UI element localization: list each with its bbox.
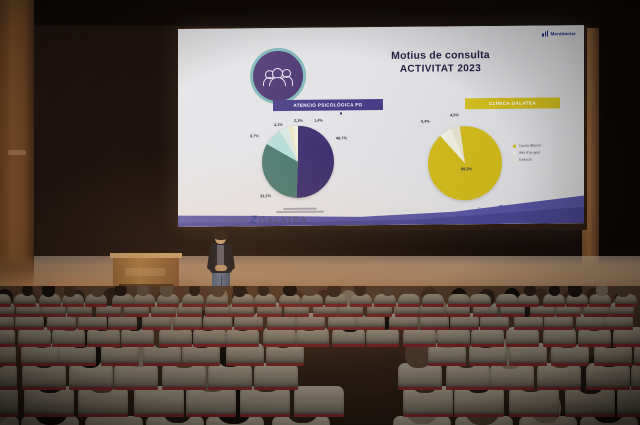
audience-seat [631,363,640,388]
legend-swatch-icon [513,159,516,162]
pie-right-label-1: 6,4% [421,119,430,124]
audience-member [160,286,173,297]
pie-left-label-4: 2,2% [294,118,303,123]
people-glyph [263,67,293,85]
galatea-fundacio-label: Fundació [226,217,248,223]
pie-left-label-5: 1,4% [314,118,323,123]
legend-item: Més d'un gest [513,150,571,155]
legend-label: Més d'un gest [519,151,541,155]
audience-seat [448,294,470,305]
audience-member [91,286,105,297]
legend-swatch-icon [513,151,516,154]
people-group-icon [250,48,306,105]
mentimeter-logo: Mentimeter [542,30,576,36]
presenter-shirt [217,245,224,265]
audience-member [64,286,76,297]
presenter-arm-right [227,252,235,271]
audience-member [549,286,560,296]
pie-left-label-0: 48,7% [336,135,347,140]
presenter-hair [214,231,228,240]
galatea-name-label: GALATEA [259,215,308,225]
audience-seat [254,363,298,388]
audience-member [616,286,630,297]
audience-member [211,286,225,297]
slide-title: Motius de consulta ACTIVITAT 2023 [328,47,553,77]
galatea-mark-icon: Z [249,214,258,226]
pie-left-label-3: 4,1% [274,122,283,127]
ceiling-band [34,0,640,26]
body-paragraph [340,116,418,117]
audience-member [258,286,269,296]
legend-item: Causa diferent [513,143,571,148]
audience-member [137,286,149,296]
audience-seat [398,294,420,305]
pie-chart-clinica-galatea [428,126,502,201]
legend-swatch-icon [513,144,516,147]
pie-right-label-2: 4,5% [450,112,459,117]
audience-seat [617,386,640,415]
slide-body-text [340,111,418,117]
pie-left-label-2: 8,7% [250,133,259,138]
body-paragraph [340,116,418,117]
audience-seat [469,294,491,305]
audience-seat [85,416,143,425]
pie-chart-atencio-psicologica [262,126,334,199]
section-badge-clinica-galatea: CLÍNICA GALATEA [465,97,560,109]
legend-label: Causa diferent [519,144,542,148]
pie-right-legend: Causa diferent Més d'un gest Evolució [513,143,571,165]
body-paragraph [340,116,418,117]
audience-member [568,286,582,297]
audience-seat [496,294,518,305]
mentimeter-label: Mentimeter [550,31,576,36]
audience-member [382,286,394,296]
presenter-hands [215,265,227,271]
lectern-plaque [125,268,165,276]
audience-seat [294,386,344,415]
seated-audience [0,286,640,425]
audience-seat [0,386,18,415]
mentimeter-bars-icon [542,30,548,36]
audience-seat [134,386,184,415]
audience-member [114,286,126,296]
body-paragraph [340,111,418,112]
pie-right-label-0: 88,3% [461,166,472,171]
lectern-top [110,253,182,258]
body-paragraph [340,116,418,117]
audience-member [524,286,535,296]
audience-member [189,286,200,296]
audience-member [327,286,340,297]
audience-member [42,286,56,297]
audience-member [22,286,33,296]
section-badge-atencio-psicologica: ATENCIÓ PSICOLÒGICA PG [273,99,383,111]
audience-member [303,286,317,296]
auditorium-scene: Mentimeter Motius de consulta ACTIVITAT … [0,0,640,425]
projection-screen: Mentimeter Motius de consulta ACTIVITAT … [178,25,584,227]
galatea-logo-bottom: Fundació Z GALATEA [226,214,307,227]
audience-member [596,286,608,296]
pie-left-label-1: 33,1% [260,193,271,198]
presentation-slide: Mentimeter Motius de consulta ACTIVITAT … [178,25,584,227]
legend-label: Evolució [519,158,532,162]
title-line-2: ACTIVITAT 2023 [328,62,553,78]
legend-item: Evolució [513,158,571,163]
audience-seat [422,294,444,305]
